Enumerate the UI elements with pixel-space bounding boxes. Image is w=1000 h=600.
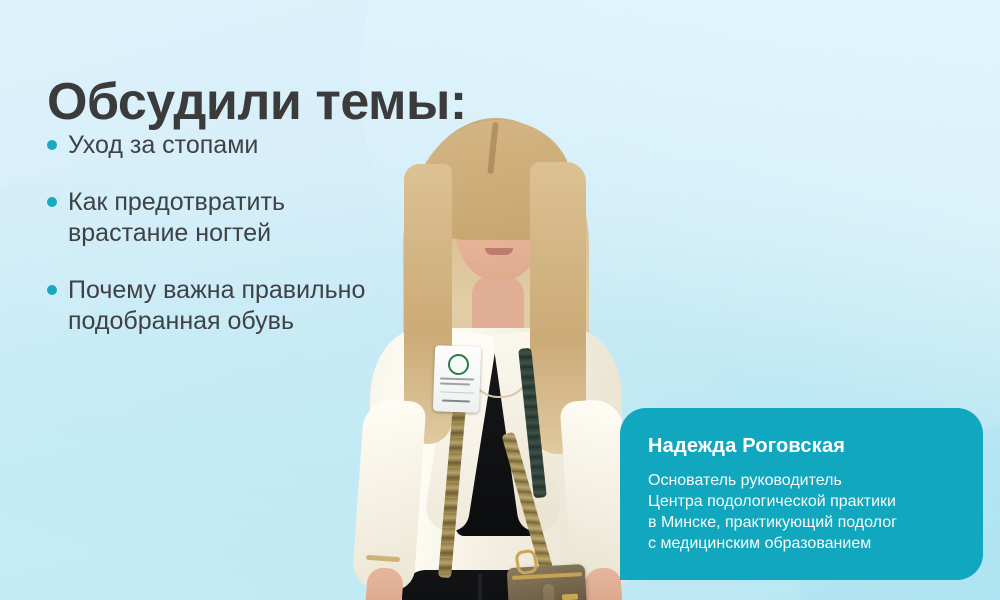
trouser-seam xyxy=(478,574,482,600)
arm-left xyxy=(351,398,426,592)
bullet-dot-icon xyxy=(47,197,57,207)
speaker-role-line: Центра подологической практики xyxy=(648,491,957,512)
speaker-info-card: Надежда Роговская Основатель руководител… xyxy=(620,408,983,580)
handbag-buckle xyxy=(562,594,578,600)
speaker-role-line: Основатель руководитель xyxy=(648,470,957,491)
speaker-photo xyxy=(330,100,660,600)
slide-canvas: Обсудили темы: Уход за стопами Как предо… xyxy=(0,0,1000,600)
speaker-name: Надежда Роговская xyxy=(648,434,957,458)
bullet-dot-icon xyxy=(47,285,57,295)
speaker-role-line: с медицинским образованием xyxy=(648,533,957,554)
bullet-dot-icon xyxy=(47,140,57,150)
speaker-role: Основатель руководитель Центра подологич… xyxy=(648,470,957,554)
speaker-role-line: в Минске, практикующий подолог xyxy=(648,512,957,533)
mouth xyxy=(485,248,513,255)
